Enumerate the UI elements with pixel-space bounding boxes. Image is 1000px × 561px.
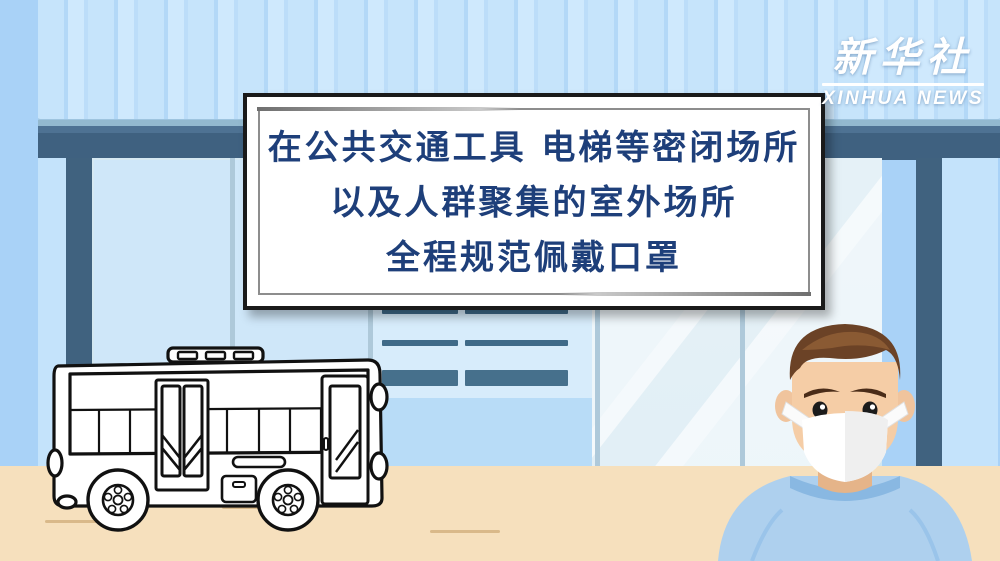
masked-person-illustration: [690, 310, 1000, 561]
logo-chinese-text: 新华社: [822, 38, 984, 81]
sign-text-block: 在公共交通工具 电梯等密闭场所 以及人群聚集的室外场所 全程规范佩戴口罩: [247, 97, 821, 306]
face-mask-shadow: [845, 411, 888, 482]
sign-line-1: 在公共交通工具 电梯等密闭场所: [268, 123, 801, 174]
advisory-sign: 在公共交通工具 电梯等密闭场所 以及人群聚集的室外场所 全程规范佩戴口罩: [243, 93, 825, 310]
bus-svg: [24, 330, 404, 561]
logo-english-text: XINHUA NEWS: [822, 89, 984, 108]
eye-right-glint: [870, 404, 875, 409]
sign-line-2: 以及人群聚集的室外场所: [331, 178, 738, 229]
person-svg: [690, 310, 1000, 561]
eye-left-glint: [820, 404, 825, 409]
sign-line-3: 全程规范佩戴口罩: [386, 233, 682, 284]
poster-canvas: 在公共交通工具 电梯等密闭场所 以及人群聚集的室外场所 全程规范佩戴口罩 新华社…: [0, 0, 1000, 561]
ground-dash-3: [430, 530, 500, 533]
xinhua-logo: 新华社 XINHUA NEWS: [822, 38, 984, 108]
logo-divider: [822, 83, 984, 86]
city-bus-illustration: [24, 330, 404, 561]
shelf-block-2: [465, 370, 568, 386]
shelf-line-4: [465, 340, 568, 346]
